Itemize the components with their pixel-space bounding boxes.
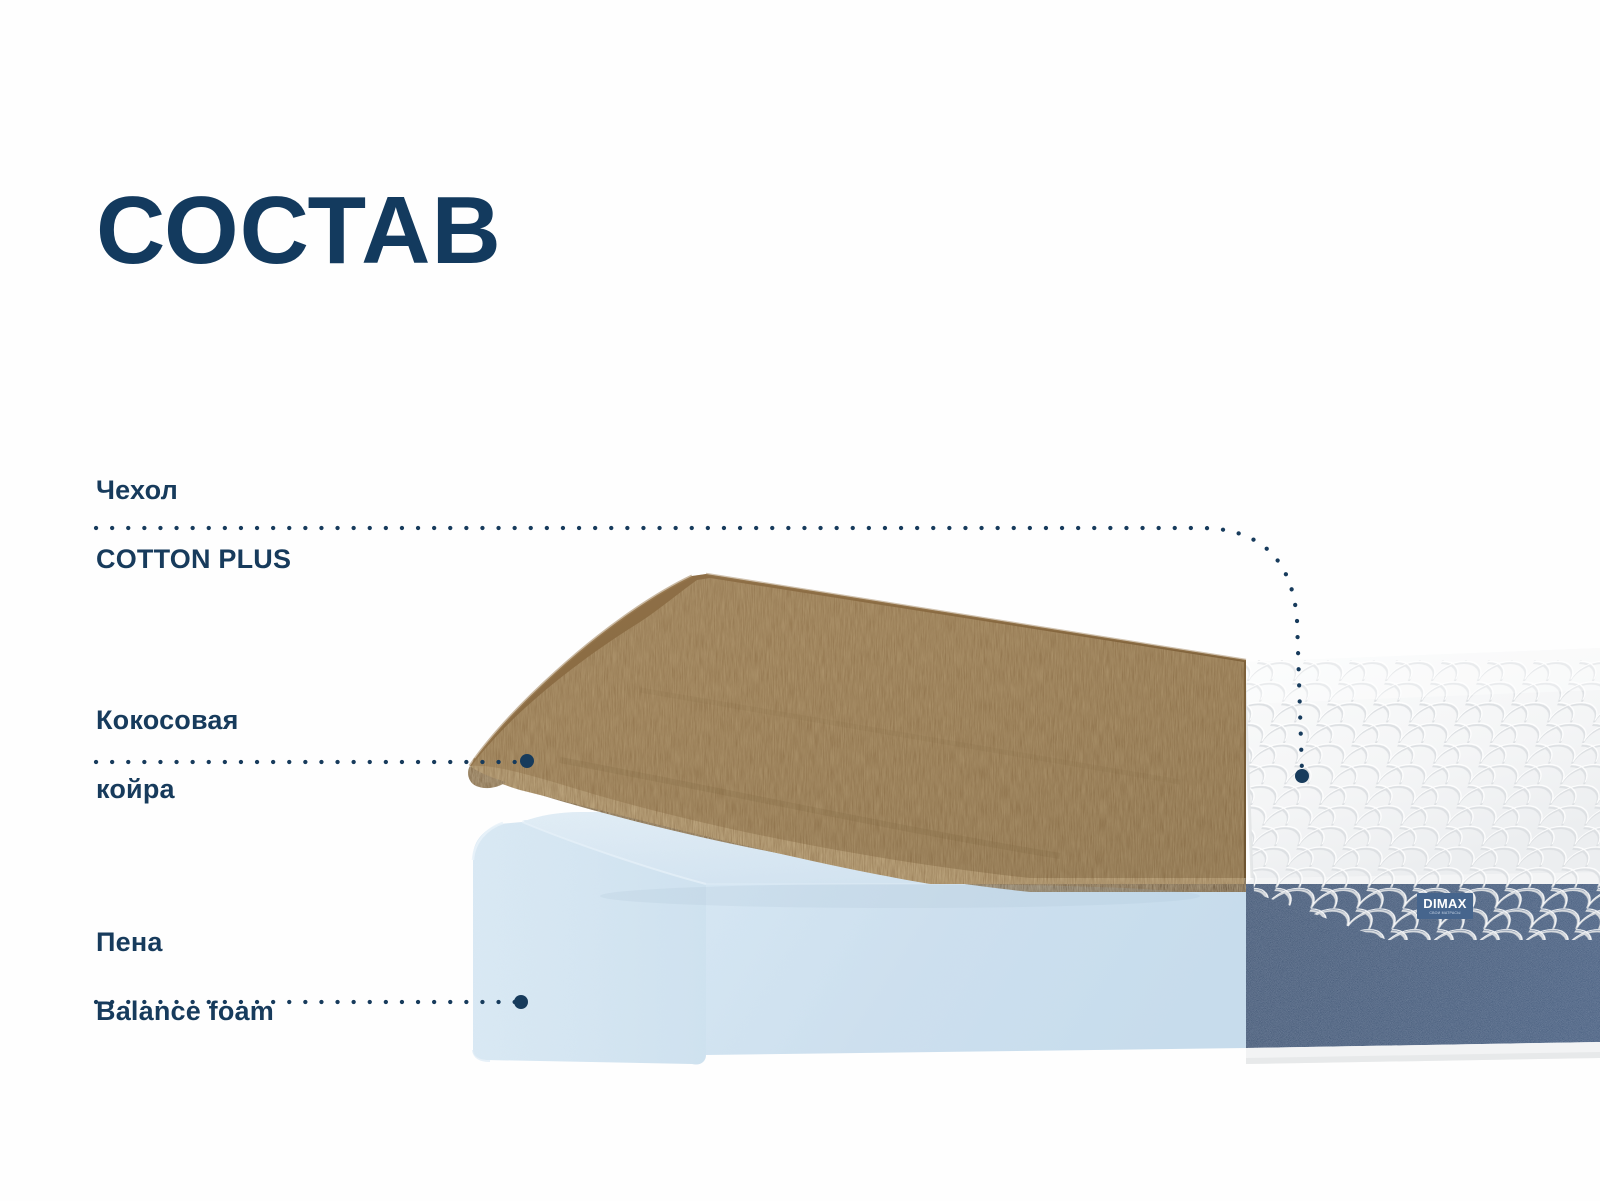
layer-label-cover-line2: COTTON PLUS [96,542,291,577]
layer-label-foam-line2: Balance foam [96,994,274,1029]
layer-label-coir: Кокосовая койра [96,668,239,842]
layer-label-foam-line1: Пена [96,925,274,960]
infographic-canvas: СОСТАВ [0,0,1600,1201]
dimax-brand-tag: DIMAX СВОИ МАТРАСЫ [1417,893,1473,919]
layer-label-coir-line1: Кокосовая [96,703,239,738]
cover-layer [1200,600,1600,940]
layer-label-foam: Пена Balance foam [96,890,274,1064]
layer-label-coir-line2: койра [96,772,239,807]
dimax-tagline-text: СВОИ МАТРАСЫ [1429,912,1460,915]
layer-label-cover-line1: Чехол [96,473,291,508]
dimax-brand-text: DIMAX [1423,897,1466,910]
layer-label-cover: Чехол COTTON PLUS [96,438,291,612]
